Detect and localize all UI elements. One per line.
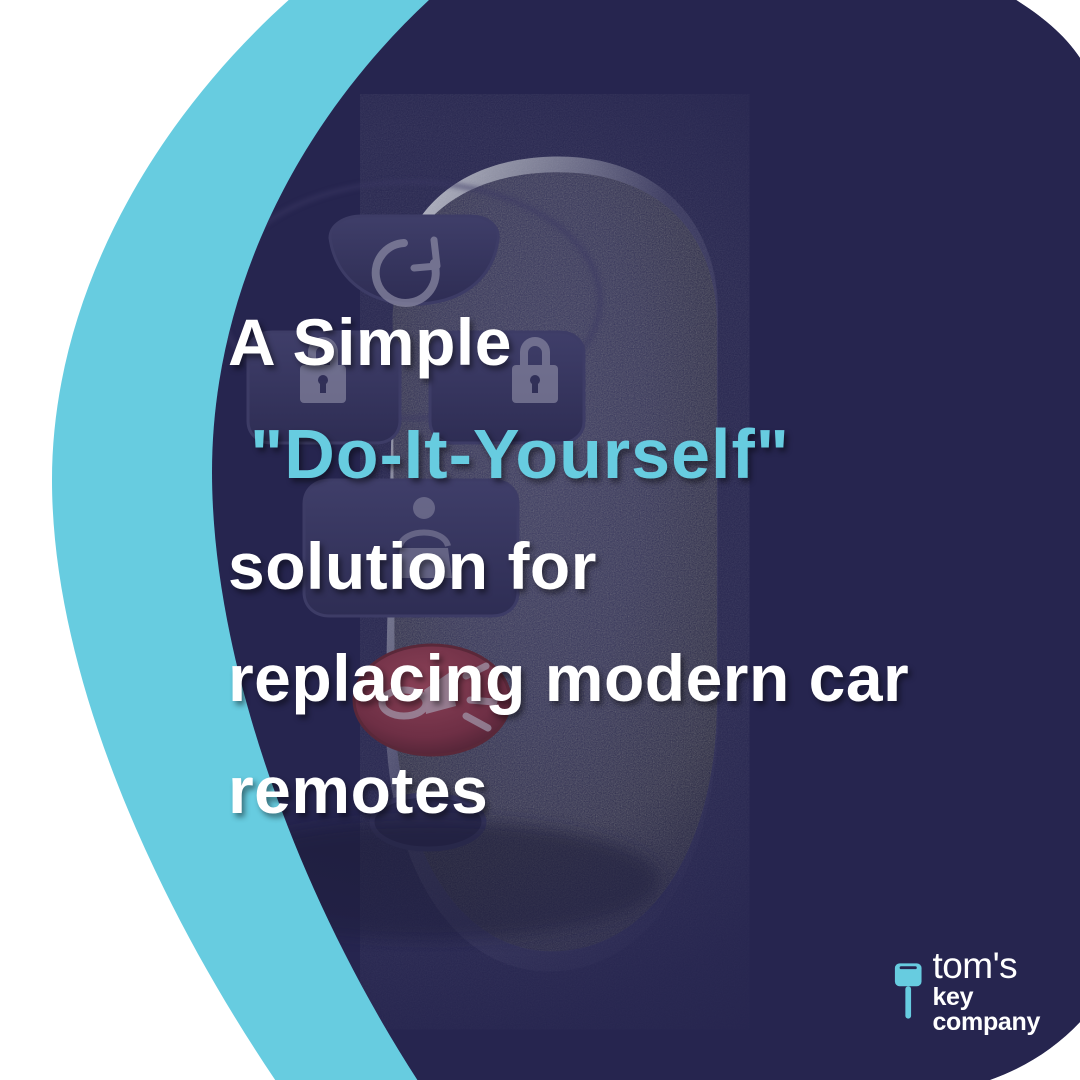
brand-name-toms: tom's bbox=[932, 947, 1080, 984]
brand-logo: tom's key company bbox=[893, 947, 1080, 1035]
headline-block: A Simple "Do-It-Yourself" solution for r… bbox=[228, 286, 1048, 846]
headline-line-3: solution for bbox=[228, 510, 1048, 622]
headline-line-1: A Simple bbox=[228, 286, 1048, 398]
poster-canvas: A Simple "Do-It-Yourself" solution for r… bbox=[0, 0, 1080, 1080]
headline-line-2: "Do-It-Yourself" bbox=[228, 398, 1048, 510]
headline-line-4: replacing modern car bbox=[228, 622, 1048, 734]
key-icon bbox=[893, 960, 923, 1022]
brand-wordmark: tom's key company bbox=[932, 947, 1080, 1035]
brand-name-key-company: key company bbox=[932, 985, 1080, 1035]
headline-line-5: remotes bbox=[228, 734, 1048, 846]
